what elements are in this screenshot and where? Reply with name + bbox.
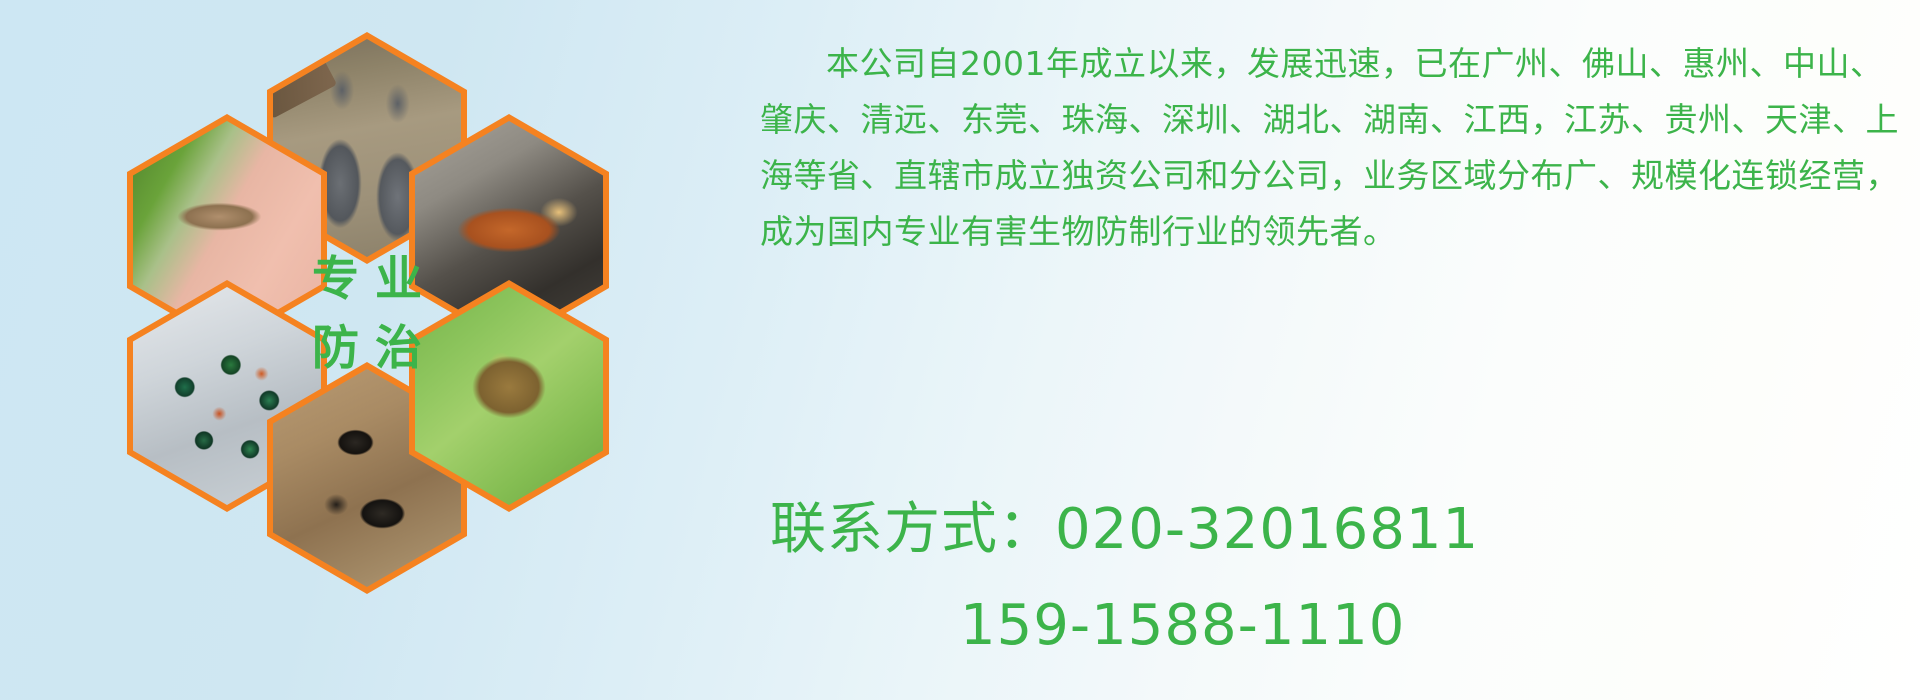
hex-slogan-inner: 专业 防治 <box>273 205 461 423</box>
intro-copy: 本公司自2001年成立以来，发展迅速，已在广州、佛山、惠州、中山、肇庆、清远、东… <box>760 36 1900 260</box>
contact-block: 联系方式：020-32016811 159-1588-1110 <box>770 482 1910 674</box>
pest-control-banner: 专业 防治 本公司自2001年成立以来，发展迅速，已在广州、佛山、惠州、中山、肇… <box>0 0 1920 700</box>
slogan-line-2: 防治 <box>296 325 438 372</box>
slogan-text-block: 专业 防治 <box>273 205 461 423</box>
contact-line-secondary[interactable]: 159-1588-1110 <box>770 578 1910 674</box>
intro-paragraph: 本公司自2001年成立以来，发展迅速，已在广州、佛山、惠州、中山、肇庆、清远、东… <box>760 36 1900 260</box>
slogan-line-1: 专业 <box>296 256 438 303</box>
contact-line-primary[interactable]: 联系方式：020-32016811 <box>770 497 1479 562</box>
hex-photo-cluster: 专业 防治 <box>95 8 615 568</box>
